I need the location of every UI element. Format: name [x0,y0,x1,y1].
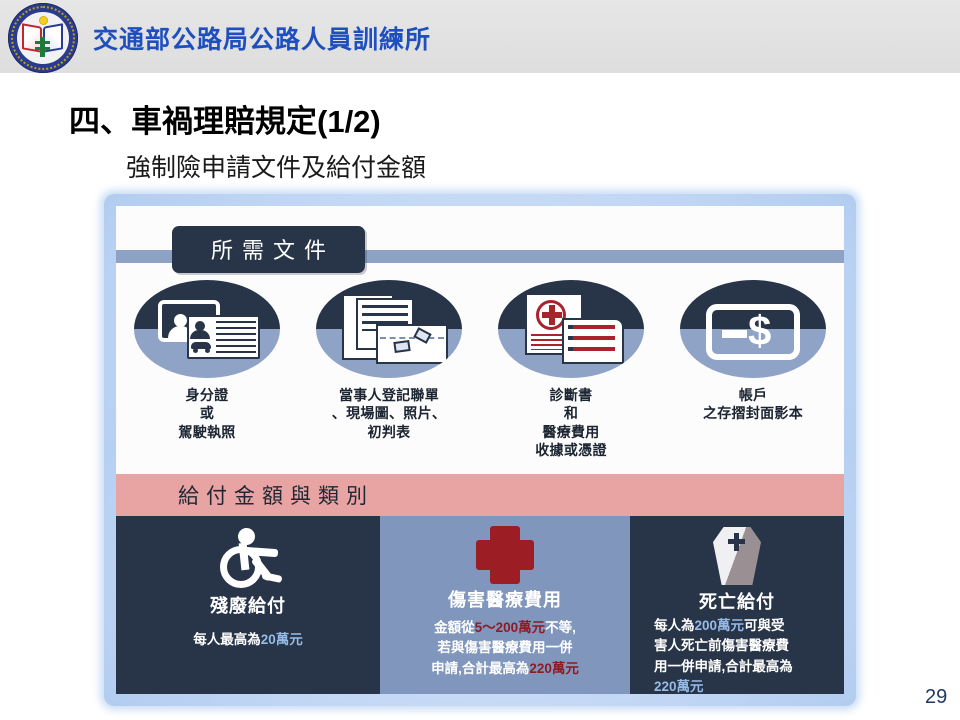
payment-desc-line: 金額從5～200萬元不等, [394,618,616,638]
required-documents-banner: 所需文件 [172,226,365,273]
documents-row: 身分證 或 駕駛執照 [116,280,844,460]
accident-documents-icon [316,280,462,378]
payment-column-disability: 殘廢給付 每人最高為20萬元 [116,516,380,694]
required-documents-section: 所需文件 [116,206,844,474]
medical-certificate-icon [498,280,644,378]
document-item-accident-forms: 當事人登記聯單 、現場圖、照片、 初判表 [298,280,480,460]
slide-page-number: 29 [925,686,947,709]
payment-desc-line: 用一併申請,合計最高為 [654,657,826,677]
wheelchair-icon [116,524,380,586]
document-item-medical: 診斷書 和 醫療費用 收據或憑證 [480,280,662,460]
payment-amount: 200萬元 [695,618,745,633]
document-label: 帳戶 之存摺封面影本 [703,386,803,423]
header-bar: 交通部公路局公路人員訓練所 [0,0,960,73]
payment-amount: 220萬元 [654,677,826,694]
payment-column-death: 死亡給付 每人為200萬元可與受 害人死亡前傷害醫療費 用一併申請,合計最高為 … [630,516,844,694]
payment-desc-prefix: 金額從 [434,620,475,635]
payment-amount: 220萬元 [529,661,579,676]
infographic-image: 所需文件 [116,206,844,694]
payment-desc-prefix: 申請,合計最高為 [431,661,529,676]
payment-title: 殘廢給付 [116,592,380,618]
document-label: 診斷書 和 醫療費用 收據或憑證 [535,386,607,460]
institute-emblem-icon [8,3,78,73]
document-label-line: 駕駛執照 [178,423,235,441]
payment-desc-line: 害人死亡前傷害醫療費 [654,636,826,656]
document-label-line: 帳戶 [703,386,803,404]
infographic-frame: 所需文件 [104,194,856,706]
payment-desc-prefix: 每人最高為 [193,632,261,647]
payment-desc-suffix: 不等, [545,620,576,635]
document-label-line: 和 [535,404,607,422]
red-cross-icon [380,524,630,586]
document-label-line: 收據或憑證 [535,441,607,459]
payment-description: 每人最高為20萬元 [116,630,380,650]
document-label-line: 診斷書 [535,386,607,404]
document-label-line: 、現場圖、照片、 [332,404,446,422]
document-label-line: 當事人登記聯單 [332,386,446,404]
payment-description: 每人為200萬元可與受 害人死亡前傷害醫療費 用一併申請,合計最高為 220萬元 [630,616,844,694]
payment-desc-prefix: 每人為 [654,618,695,633]
document-label-line: 或 [178,404,235,422]
payment-title: 傷害醫療費用 [380,586,630,612]
page-title: 四、車禍理賠規定(1/2) [69,96,381,141]
page-subtitle: 強制險申請文件及給付金額 [126,148,426,184]
payment-description: 金額從5～200萬元不等, 若與傷害醫療費用一併 申請,合計最高為220萬元 [380,618,630,679]
payment-amount: 5～200萬元 [475,620,546,635]
payment-desc-line: 若與傷害醫療費用一併 [394,638,616,658]
document-item-bankbook: $ 帳戶 之存摺封面影本 [662,280,844,460]
document-item-id: 身分證 或 駕駛執照 [116,280,298,460]
bankbook-dollar-icon: $ [680,280,826,378]
presentation-slide: 交通部公路局公路人員訓練所 四、車禍理賠規定(1/2) 強制險申請文件及給付金額… [0,0,960,720]
document-label-line: 之存摺封面影本 [703,404,803,422]
payment-title: 死亡給付 [630,588,844,614]
document-label-line: 初判表 [332,423,446,441]
payment-amount: 20萬元 [261,632,303,647]
payment-columns: 殘廢給付 每人最高為20萬元 傷害醫療費用 金額從5～200萬元不等, 若與傷害… [116,516,844,694]
id-card-and-licence-icon [134,280,280,378]
coffin-icon [630,524,844,586]
payment-desc-line: 每人為200萬元可與受 [654,616,826,636]
document-label-line: 醫療費用 [535,423,607,441]
payment-amounts-band: 給付金額與類別 [116,474,844,516]
document-label-line: 身分證 [178,386,235,404]
document-label: 當事人登記聯單 、現場圖、照片、 初判表 [332,386,446,441]
payment-amounts-band-label: 給付金額與類別 [178,480,374,510]
payment-column-medical: 傷害醫療費用 金額從5～200萬元不等, 若與傷害醫療費用一併 申請,合計最高為… [380,516,630,694]
organization-title: 交通部公路局公路人員訓練所 [93,20,431,56]
payment-desc-suffix: 可與受 [744,618,785,633]
payment-desc-line: 申請,合計最高為220萬元 [394,659,616,679]
document-label: 身分證 或 駕駛執照 [178,386,235,441]
